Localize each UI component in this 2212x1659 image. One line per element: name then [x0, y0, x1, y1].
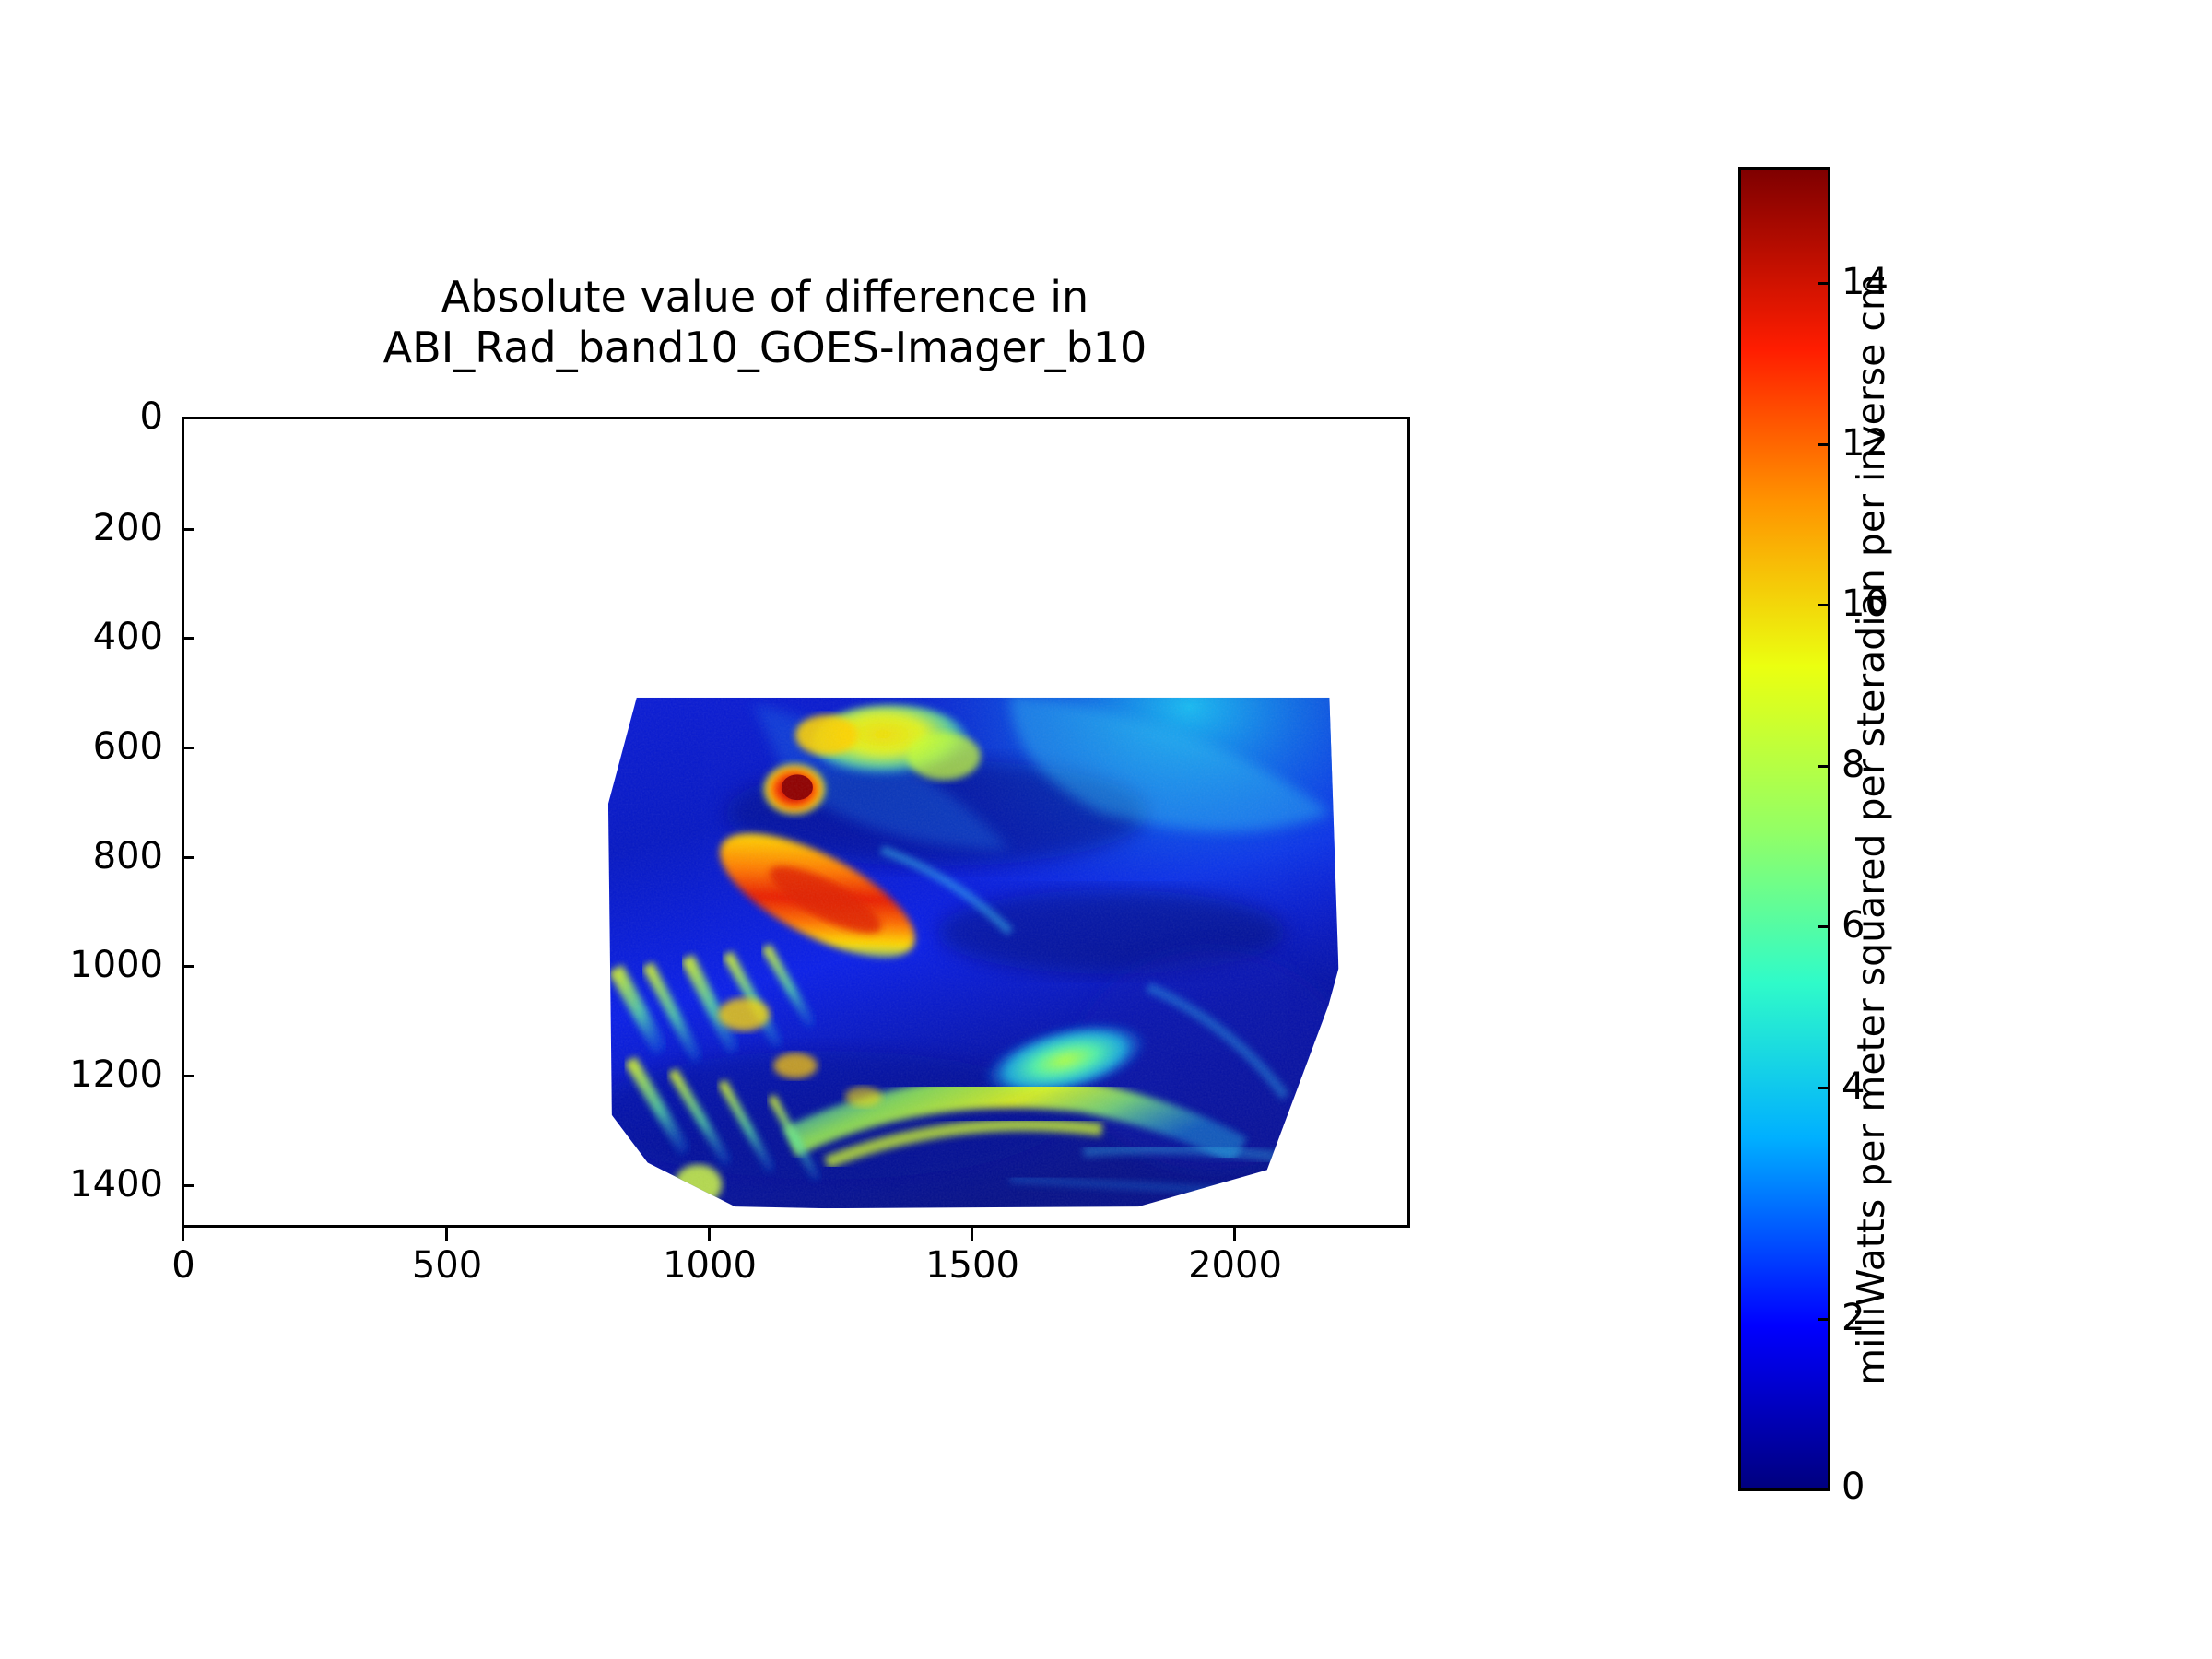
x-tick-1500	[971, 1228, 973, 1241]
x-tick-label-0: 0	[91, 1247, 276, 1284]
y-tick-label-400: 400	[16, 618, 163, 655]
colorbar-tick-2	[1818, 1318, 1830, 1321]
plot-axes	[182, 417, 1410, 1228]
y-tick-800	[182, 856, 194, 859]
colorbar	[1738, 167, 1830, 1491]
y-tick-1000	[182, 965, 194, 968]
x-tick-1000	[708, 1228, 711, 1241]
colorbar-tick-8	[1818, 765, 1830, 768]
y-tick-label-1400: 1400	[16, 1166, 163, 1203]
colorbar-tick-14	[1818, 282, 1830, 285]
y-tick-label-800: 800	[16, 838, 163, 875]
x-tick-2000	[1233, 1228, 1236, 1241]
page-title: Absolute value of difference inABI_Rad_b…	[276, 272, 1253, 373]
y-tick-1400	[182, 1184, 194, 1187]
y-tick-600	[182, 747, 194, 749]
colorbar-tick-4	[1818, 1087, 1830, 1089]
heatmap-image	[184, 419, 1407, 1225]
x-tick-label-500: 500	[355, 1247, 539, 1284]
y-tick-0	[182, 417, 194, 419]
y-tick-label-200: 200	[16, 510, 163, 547]
y-tick-label-0: 0	[16, 398, 163, 435]
x-tick-label-1000: 1000	[618, 1247, 802, 1284]
x-tick-0	[182, 1228, 184, 1241]
x-tick-500	[445, 1228, 448, 1241]
x-tick-label-1500: 1500	[880, 1247, 1065, 1284]
y-tick-1200	[182, 1075, 194, 1077]
colorbar-axis-label: milliWatts per meter squared per steradi…	[1843, 157, 1899, 1502]
y-tick-label-600: 600	[16, 728, 163, 765]
y-tick-200	[182, 528, 194, 531]
colorbar-gradient	[1741, 170, 1828, 1488]
figure-canvas: Absolute value of difference inABI_Rad_b…	[0, 0, 2212, 1659]
y-tick-400	[182, 637, 194, 640]
colorbar-tick-10	[1818, 604, 1830, 606]
colorbar-tick-6	[1818, 925, 1830, 928]
title-line-2: ABI_Rad_band10_GOES-Imager_b10	[383, 323, 1147, 372]
x-tick-label-2000: 2000	[1143, 1247, 1327, 1284]
title-line-1: Absolute value of difference in	[441, 272, 1088, 322]
y-tick-label-1000: 1000	[16, 947, 163, 983]
y-tick-label-1200: 1200	[16, 1056, 163, 1093]
colorbar-tick-12	[1818, 443, 1830, 446]
